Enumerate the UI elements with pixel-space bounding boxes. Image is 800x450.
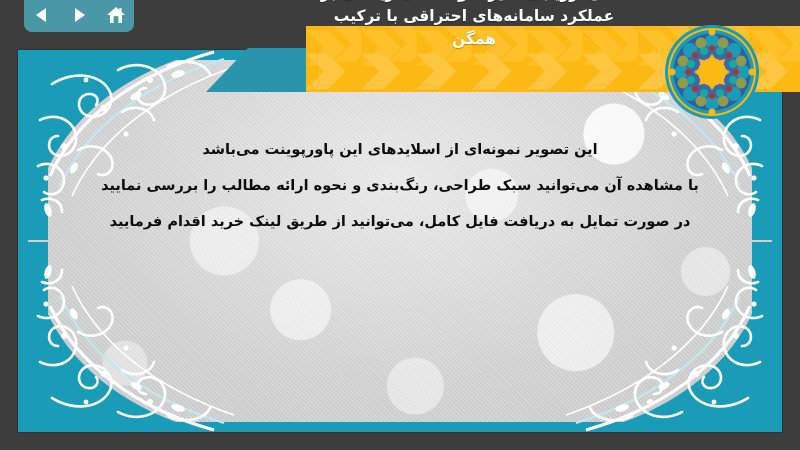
home-icon xyxy=(106,6,126,25)
slide-navigation-toolbar xyxy=(24,0,134,32)
presentation-viewer: کامل ارزیابی تأثیر سوخت‌های زیستی بر عمل… xyxy=(0,0,800,450)
title-line-3: همگن xyxy=(206,28,742,51)
body-line-1: این تصویر نمونه‌ای از اسلایدهای این پاور… xyxy=(58,132,742,168)
previous-triangle-icon xyxy=(33,6,51,24)
next-triangle-icon xyxy=(70,6,88,24)
previous-slide-button[interactable] xyxy=(29,3,55,27)
home-button[interactable] xyxy=(103,3,129,27)
body-line-2: با مشاهده آن می‌توانید سبک طراحی، رنگ‌بن… xyxy=(58,168,742,204)
persian-ornament-medallion xyxy=(664,24,760,120)
body-line-3: در صورت تمایل به دریافت فایل کامل، می‌تو… xyxy=(58,204,742,240)
title-line-2: عملکرد سامانه‌های احتراقی با ترکیب xyxy=(206,5,742,28)
next-slide-button[interactable] xyxy=(66,3,92,27)
slide-body-text: این تصویر نمونه‌ای از اسلایدهای این پاور… xyxy=(58,132,742,240)
